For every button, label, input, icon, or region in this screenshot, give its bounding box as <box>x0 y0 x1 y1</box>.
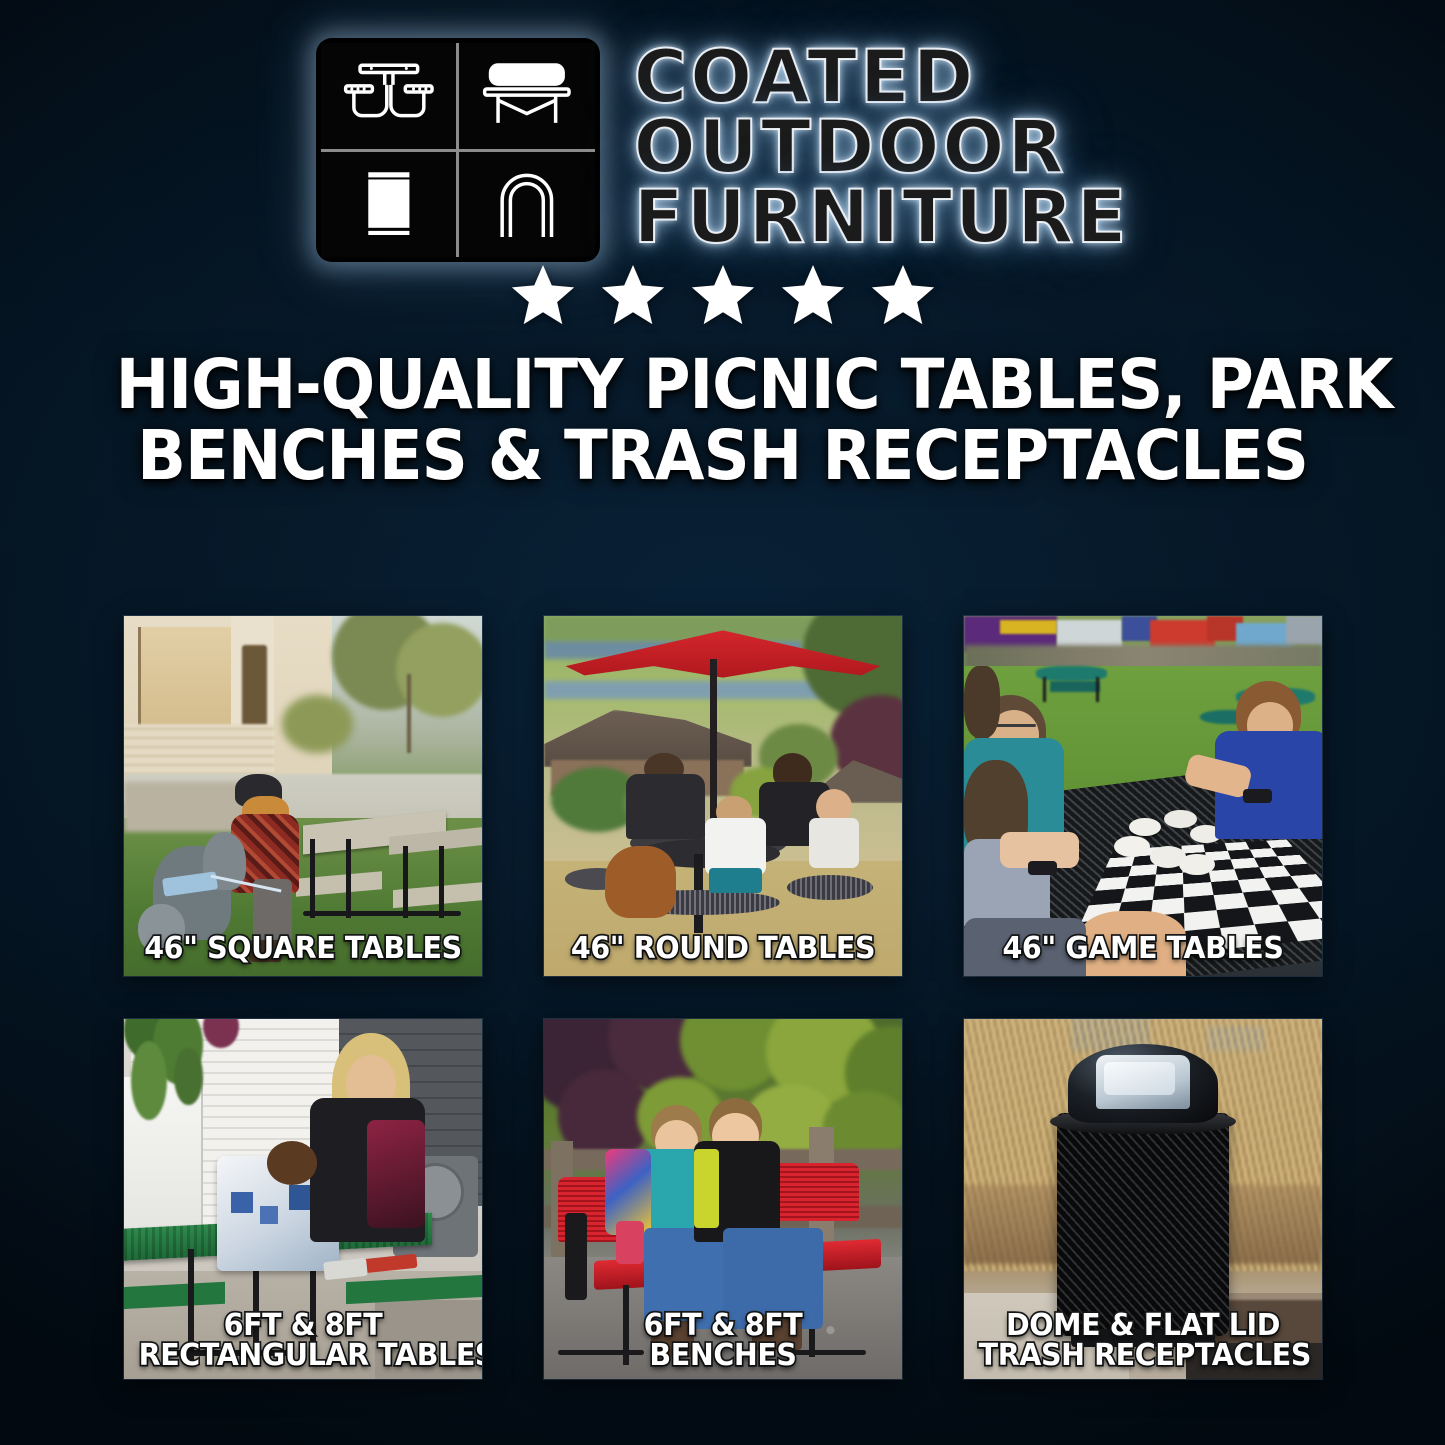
poster-content: COATED OUTDOOR FURNITURE HIGH-QUALITY PI… <box>0 0 1445 1445</box>
tile-caption: DOME & FLAT LID TRASH RECEPTACLES <box>973 1311 1313 1371</box>
scene-square-tables <box>124 616 482 976</box>
tile-caption: 6FT & 8FT RECTANGULAR TABLES <box>133 1311 473 1371</box>
caption-line-1: 46" SQUARE TABLES <box>139 934 468 964</box>
trash-receptacle-icon <box>321 152 457 258</box>
tile-caption: 46" SQUARE TABLES <box>133 934 473 964</box>
brand-header: COATED OUTDOOR FURNITURE <box>0 0 1445 238</box>
tile-caption: 46" GAME TABLES <box>973 934 1313 964</box>
product-tile-square-tables[interactable]: 46" SQUARE TABLES <box>124 616 482 976</box>
caption-line-1: 6FT & 8FT <box>139 1311 468 1341</box>
caption-line-2: RECTANGULAR TABLES <box>139 1341 468 1371</box>
poster: COATED OUTDOOR FURNITURE HIGH-QUALITY PI… <box>0 0 1445 1445</box>
product-tile-round-tables[interactable]: 46" ROUND TABLES <box>544 616 902 976</box>
star-icon <box>598 261 668 329</box>
bike-rack-arch-icon <box>459 152 595 258</box>
park-bench-icon <box>459 43 595 149</box>
star-rating <box>0 252 1445 338</box>
star-icon <box>688 261 758 329</box>
caption-line-1: DOME & FLAT LID <box>979 1311 1308 1341</box>
scene-game-tables <box>964 616 1322 976</box>
brand-line-3: FURNITURE <box>634 184 1130 252</box>
headline: HIGH-QUALITY PICNIC TABLES, PARK BENCHES… <box>51 338 1395 492</box>
tile-caption: 6FT & 8FT BENCHES <box>553 1311 893 1371</box>
tile-caption: 46" ROUND TABLES <box>553 934 893 964</box>
product-tile-rectangular-tables[interactable]: 6FT & 8FT RECTANGULAR TABLES <box>124 1019 482 1379</box>
caption-line-2: TRASH RECEPTACLES <box>979 1341 1308 1371</box>
product-tile-game-tables[interactable]: 46" GAME TABLES <box>964 616 1322 976</box>
headline-line-1: HIGH-QUALITY PICNIC TABLES, PARK <box>116 350 1330 421</box>
picnic-table-icon <box>321 43 457 149</box>
star-icon <box>868 261 938 329</box>
brand-line-2: OUTDOOR <box>634 114 1130 182</box>
brand-name: COATED OUTDOOR FURNITURE <box>634 44 1130 256</box>
brand-line-1: COATED <box>634 44 1130 112</box>
logo-icon-grid <box>321 43 595 257</box>
star-icon <box>778 261 848 329</box>
product-tile-benches[interactable]: 6FT & 8FT BENCHES <box>544 1019 902 1379</box>
scene-round-tables <box>544 616 902 976</box>
caption-line-1: 46" GAME TABLES <box>979 934 1308 964</box>
product-tile-trash-receptacles[interactable]: DOME & FLAT LID TRASH RECEPTACLES <box>964 1019 1322 1379</box>
headline-line-2: BENCHES & TRASH RECEPTACLES <box>116 421 1330 492</box>
star-icon <box>508 261 578 329</box>
caption-line-2: BENCHES <box>559 1341 888 1371</box>
product-grid: 46" SQUARE TABLES <box>124 616 1322 1379</box>
caption-line-1: 6FT & 8FT <box>559 1311 888 1341</box>
caption-line-1: 46" ROUND TABLES <box>559 934 888 964</box>
logo-mark <box>316 38 600 262</box>
